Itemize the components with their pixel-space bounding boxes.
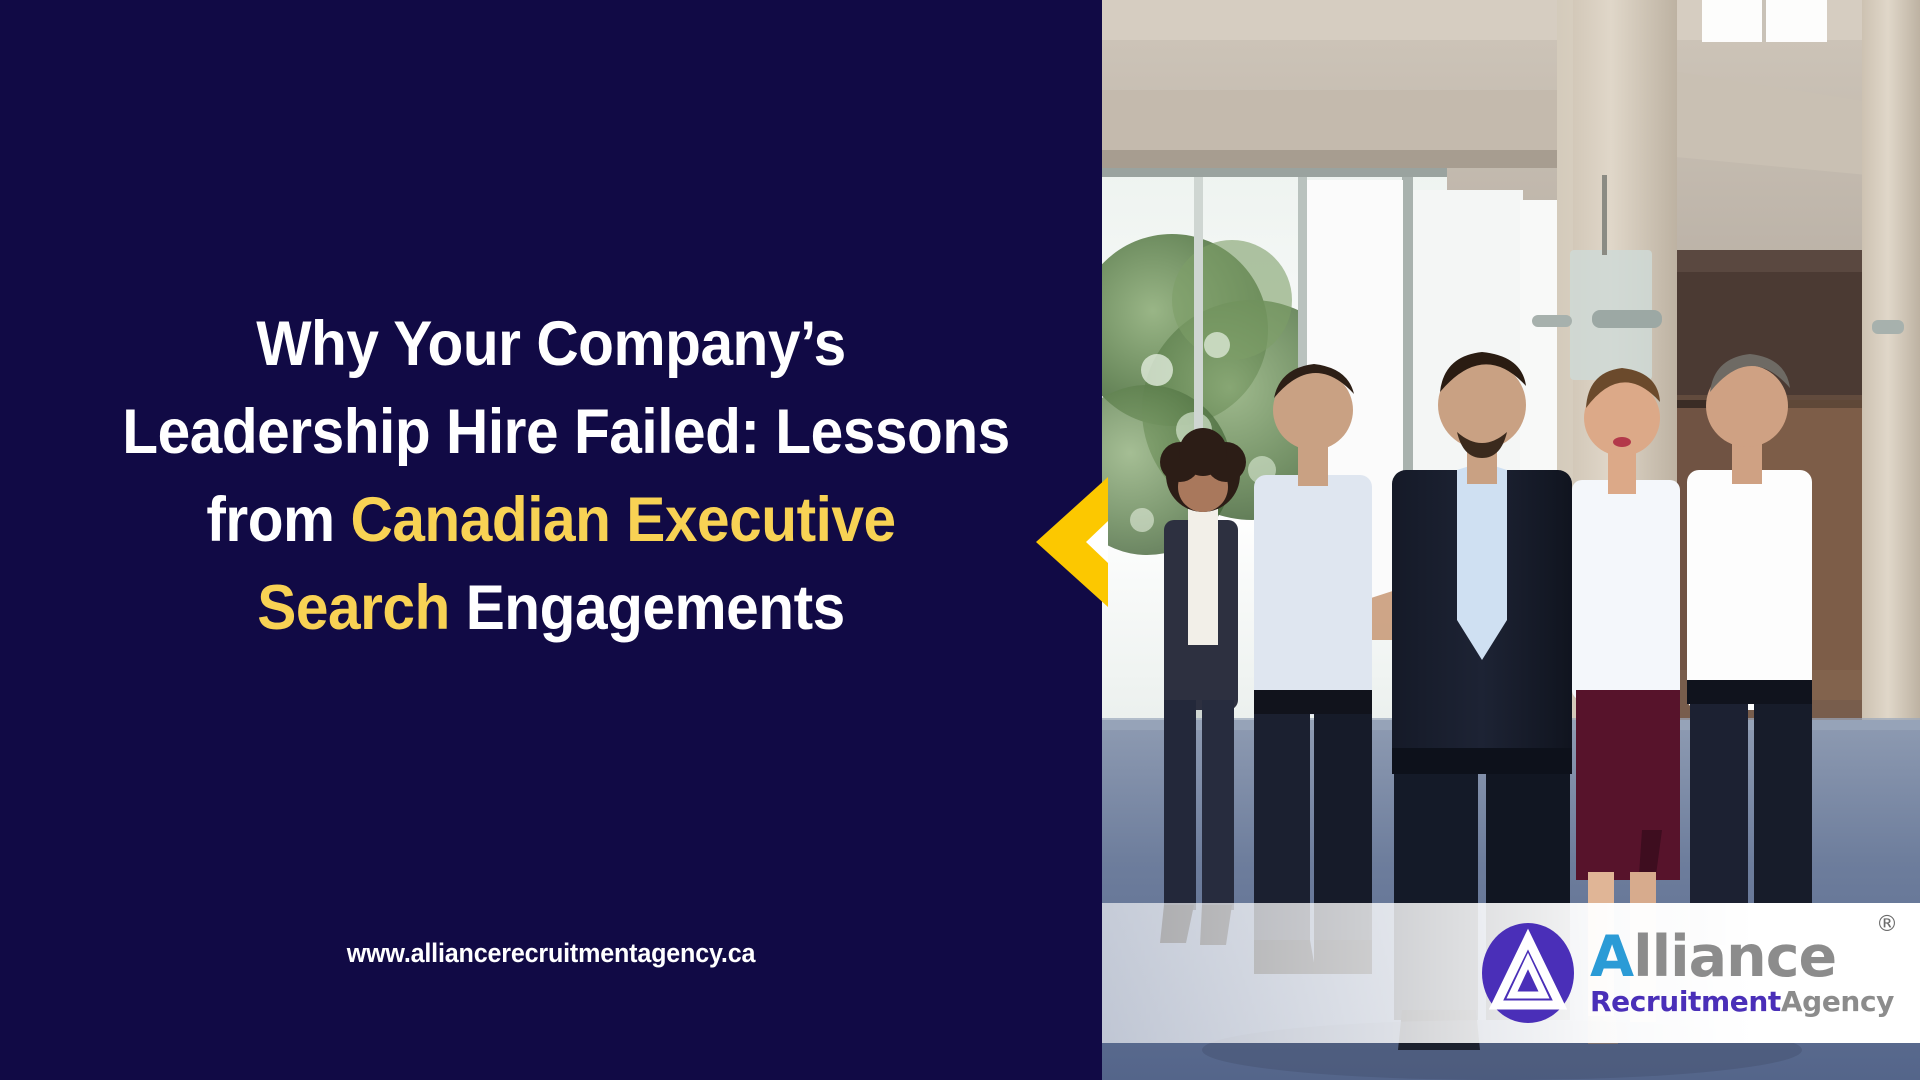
headline-panel: Why Your Company’s Leadership Hire Faile… [0, 0, 1102, 1080]
alliance-logo[interactable]: Alliance RecruitmentAgency ® [1480, 921, 1894, 1025]
headline-line-4-plain: Engagements [450, 573, 845, 643]
logo-letter-a: A [1590, 930, 1633, 984]
headline-line-2: Leadership Hire Failed: Lessons [122, 388, 979, 476]
logo-banner: Alliance RecruitmentAgency ® [1102, 903, 1920, 1043]
logo-word-agency: Agency [1781, 988, 1894, 1016]
triangle-a-monogram-icon [1480, 921, 1576, 1025]
website-url[interactable]: www.alliancerecruitmentagency.ca [39, 938, 1064, 969]
blog-promo-banner: Alliance RecruitmentAgency ® Why Your Co… [0, 0, 1920, 1080]
registered-trademark-icon: ® [1876, 914, 1898, 936]
logo-word-alliance: Alliance [1590, 930, 1894, 984]
logo-letters-lliance: lliance [1633, 930, 1836, 984]
page-title: Why Your Company’s Leadership Hire Faile… [39, 300, 1064, 652]
headline-line-4: Search Engagements [122, 564, 979, 652]
logo-subtitle: RecruitmentAgency [1590, 988, 1894, 1016]
headline-line-1: Why Your Company’s [122, 300, 979, 388]
chevron-left-icon [1032, 477, 1108, 607]
logo-word-recruitment: Recruitment [1590, 988, 1781, 1016]
logo-wordmark: Alliance RecruitmentAgency ® [1590, 930, 1894, 1016]
headline-line-3: from Canadian Executive [122, 476, 979, 564]
headline-line-3-accent: Canadian Executive [350, 485, 895, 555]
headline-line-3-plain: from [206, 485, 350, 555]
headline-line-4-accent: Search [257, 573, 450, 643]
